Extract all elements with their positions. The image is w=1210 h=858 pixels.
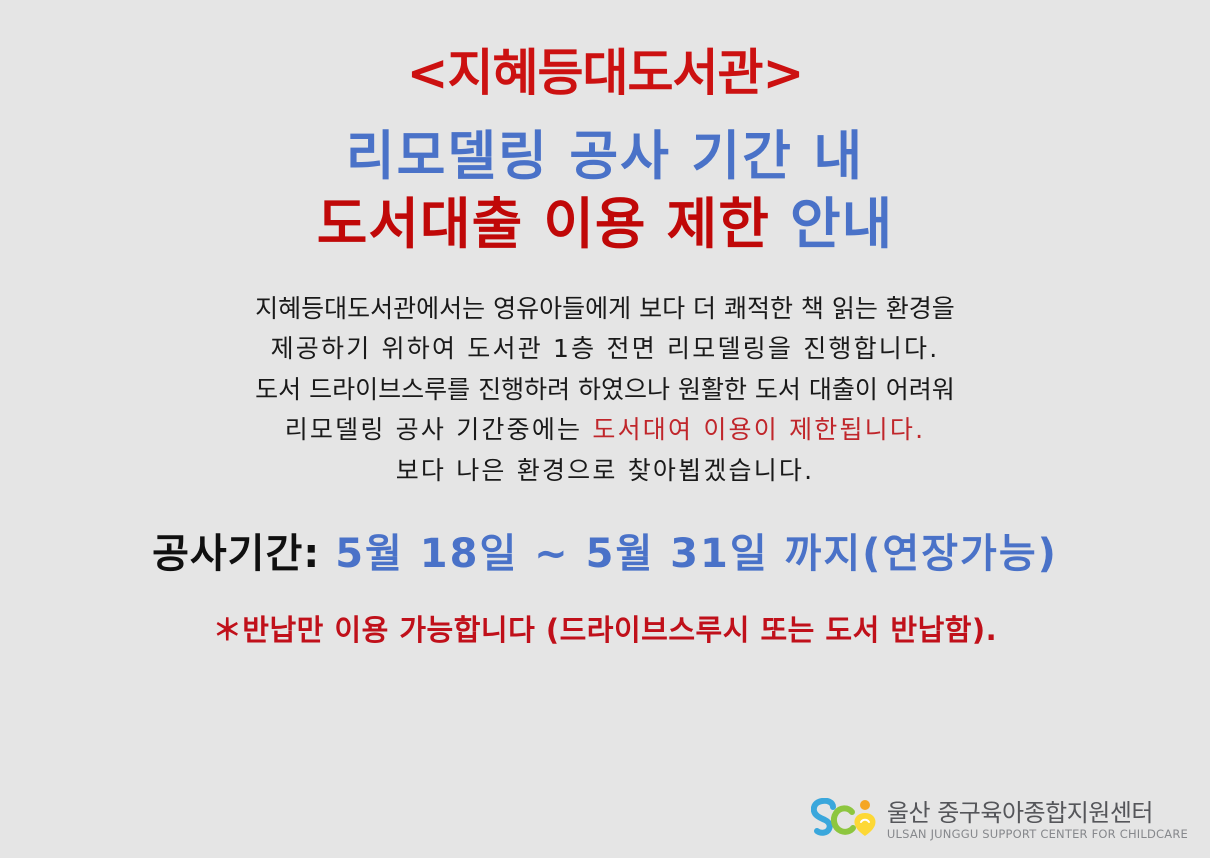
notice-subtitle-line2: 도서대출 이용 제한 안내 — [317, 194, 893, 255]
notice-subtitle-announcement-text: 안내 — [790, 192, 893, 256]
construction-period-label: 공사기간: — [152, 531, 320, 577]
body-line-4-prefix: 리모델링 공사 기간중에는 — [285, 415, 593, 444]
body-line-2: 제공하기 위하여 도서관 1층 전면 리모델링을 진행합니다. — [255, 329, 955, 370]
body-line-1: 지혜등대도서관에서는 영유아들에게 보다 더 쾌적한 책 읽는 환경을 — [255, 289, 955, 330]
organization-name-korean: 울산 중구육아종합지원센터 — [887, 801, 1188, 825]
notice-body: 지혜등대도서관에서는 영유아들에게 보다 더 쾌적한 책 읽는 환경을 제공하기… — [255, 289, 955, 492]
organization-name-english: ULSAN JUNGGU SUPPORT CENTER FOR CHILDCAR… — [887, 829, 1188, 841]
organization-name: 울산 중구육아종합지원센터 ULSAN JUNGGU SUPPORT CENTE… — [887, 801, 1188, 841]
construction-period-value: 5월 18일 ~ 5월 31일 까지(연장가능) — [335, 531, 1058, 577]
construction-period: 공사기간: 5월 18일 ~ 5월 31일 까지(연장가능) — [152, 521, 1058, 579]
body-line-5: 보다 나은 환경으로 찾아뵙겠습니다. — [255, 451, 955, 492]
body-line-4-highlight: 도서대여 이용이 제한됩니다. — [592, 415, 925, 444]
body-line-3: 도서 드라이브스루를 진행하려 하였으나 원활한 도서 대출이 어려워 — [255, 370, 955, 411]
body-line-4: 리모델링 공사 기간중에는 도서대여 이용이 제한됩니다. — [255, 410, 955, 451]
return-only-footnote: ＊반납만 이용 가능합니다 (드라이브스루시 또는 도서 반납함). — [213, 607, 997, 649]
library-name-heading: <지혜등대도서관> — [407, 46, 804, 100]
organization-logo: 울산 중구육아종합지원센터 ULSAN JUNGGU SUPPORT CENTE… — [811, 798, 1188, 844]
childcare-center-logo-icon — [811, 798, 877, 844]
notice-poster: <지혜등대도서관> 리모델링 공사 기간 내 도서대출 이용 제한 안내 지혜등… — [0, 0, 1210, 858]
notice-subtitle-restriction-text: 도서대출 이용 제한 — [317, 192, 770, 256]
notice-subtitle-line1: 리모델링 공사 기간 내 — [346, 128, 864, 186]
